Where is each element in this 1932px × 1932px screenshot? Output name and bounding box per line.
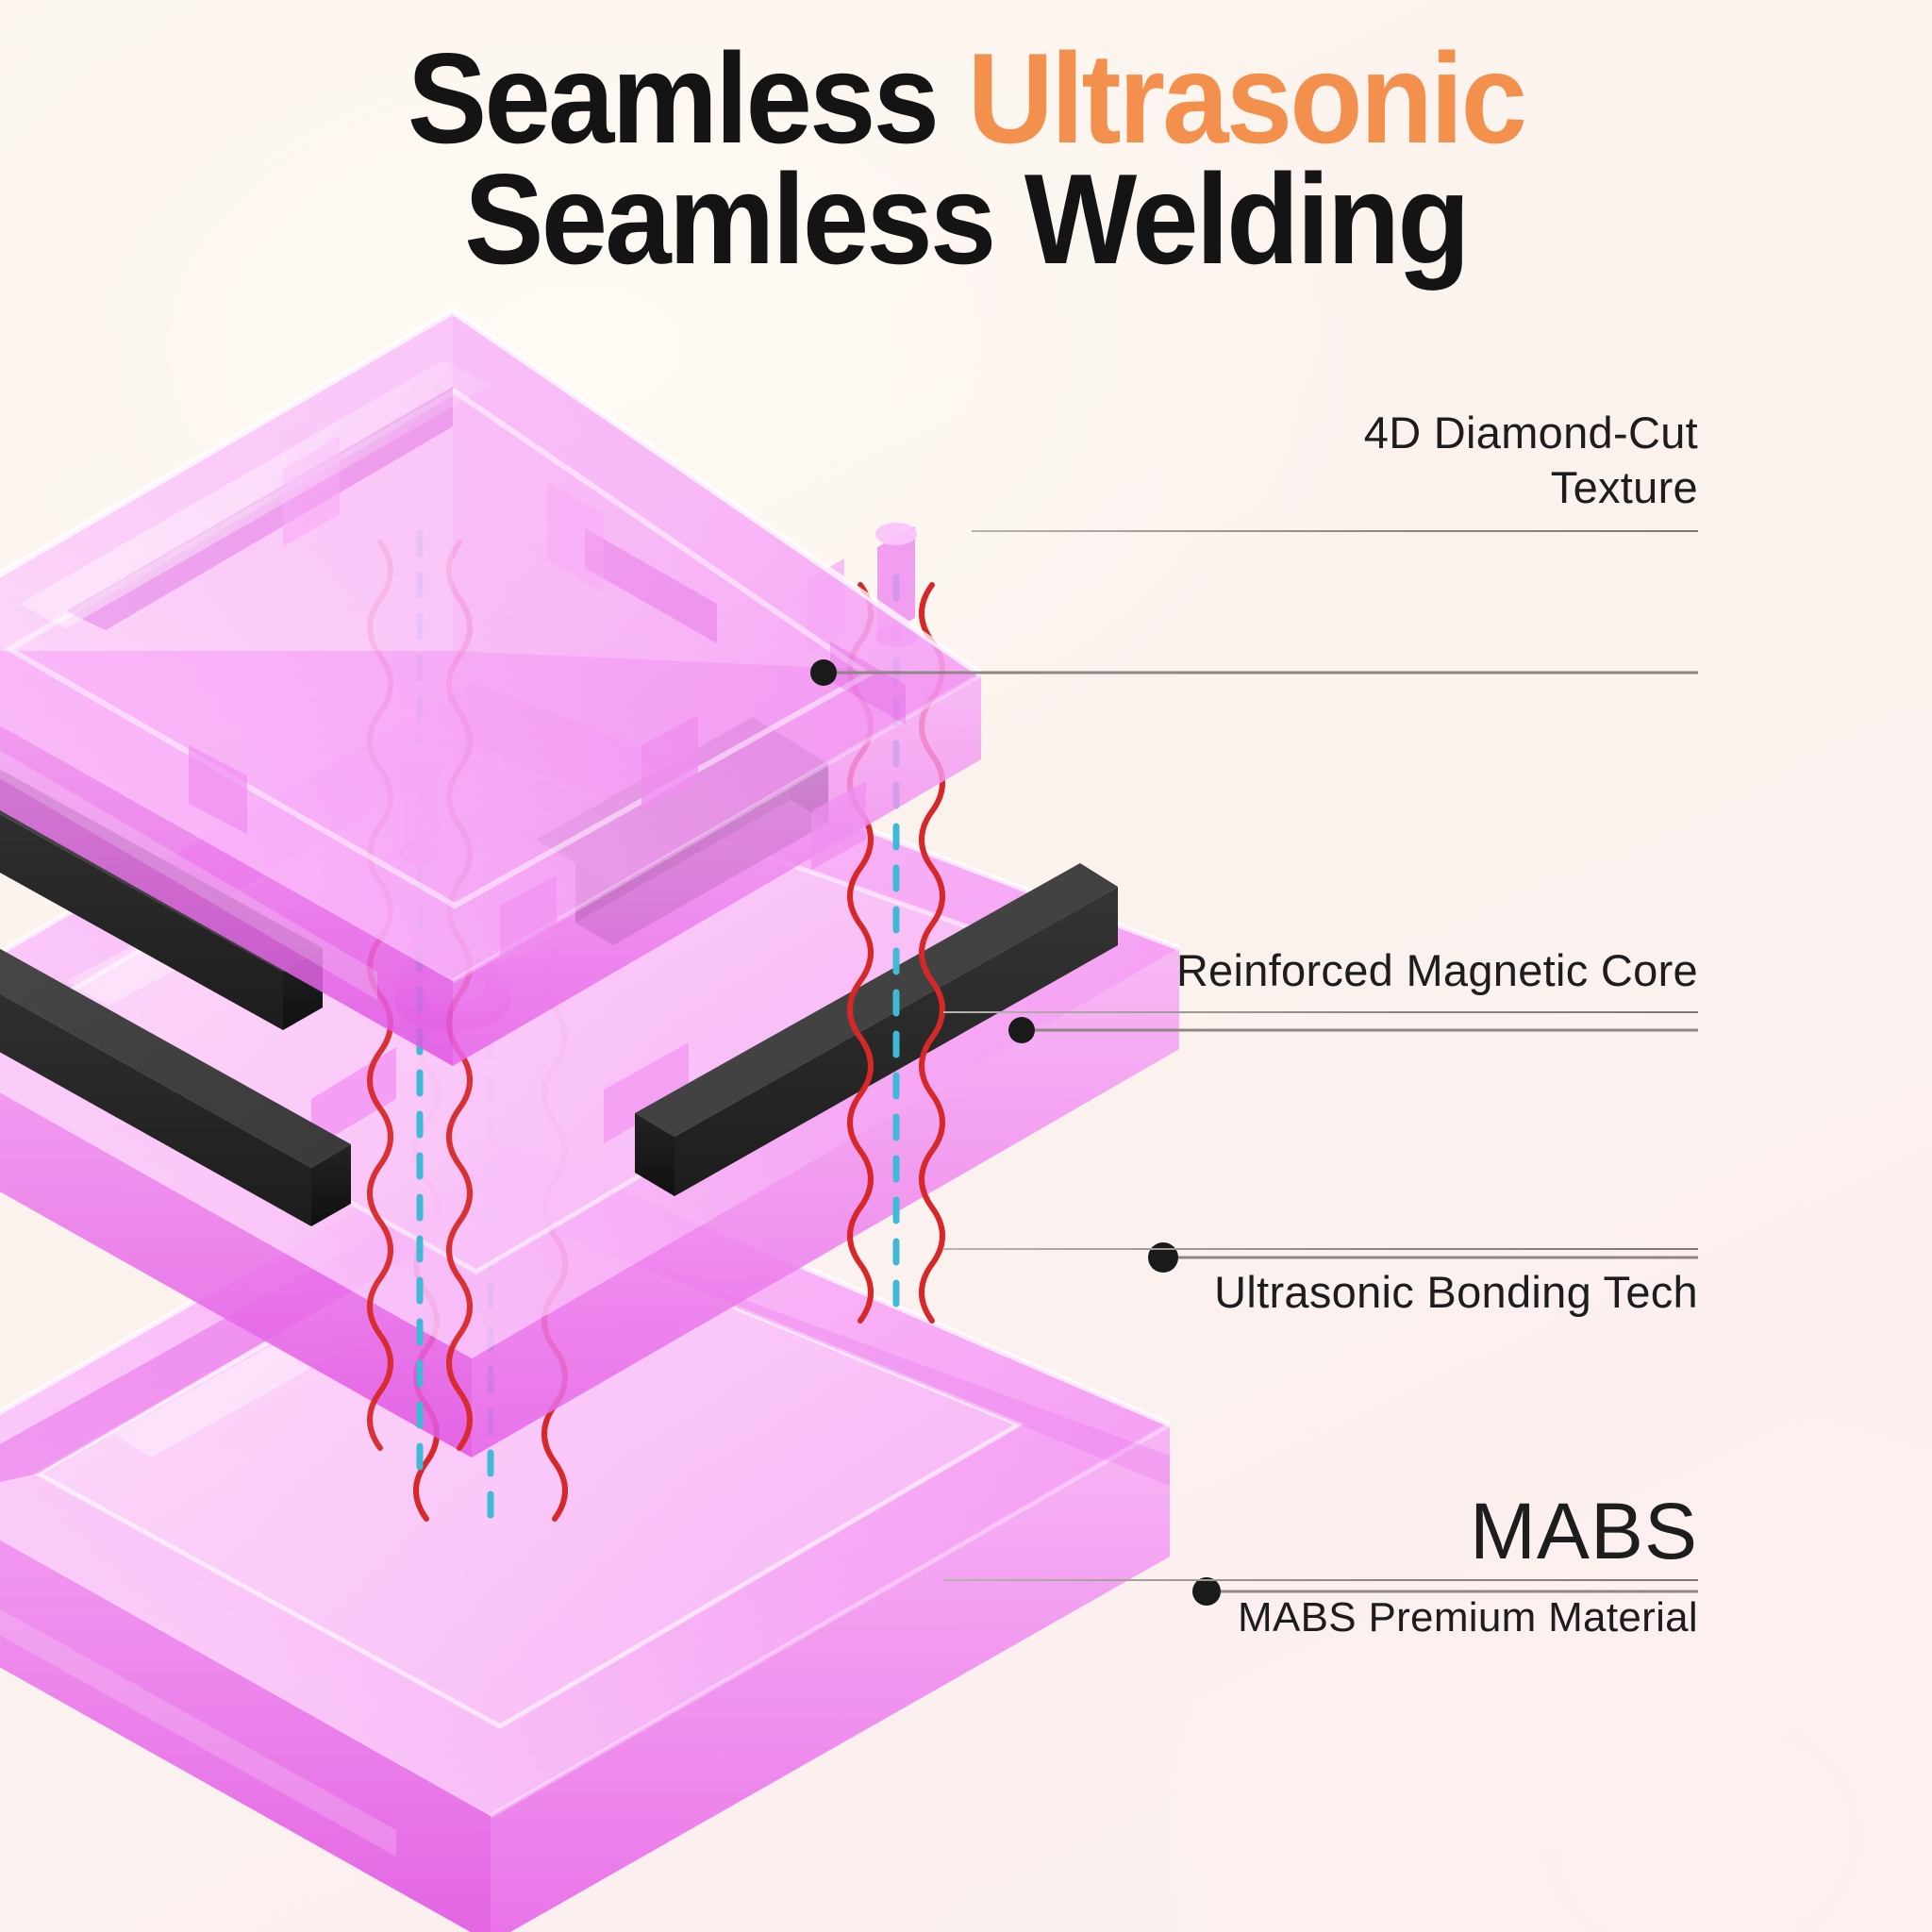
callout-mabs-label: MABS Premium Material bbox=[943, 1592, 1698, 1643]
callout-magnetic-core: Reinforced Magnetic Core bbox=[943, 943, 1698, 1013]
callout-diamond-cut: 4D Diamond-Cut Texture bbox=[972, 406, 1698, 532]
callout-dot-magnetic-core bbox=[1008, 1017, 1035, 1043]
callout-dot-diamond-cut bbox=[810, 659, 837, 686]
callout-ultrasonic-bonding-label: Ultrasonic Bonding Tech bbox=[943, 1265, 1698, 1320]
callout-diamond-cut-label: 4D Diamond-Cut Texture bbox=[972, 406, 1698, 515]
callout-diamond-cut-rule bbox=[972, 530, 1698, 532]
callout-ultrasonic-bonding-rule bbox=[943, 1248, 1698, 1250]
page-title: Seamless Ultrasonic Seamless Welding bbox=[68, 38, 1865, 279]
callout-magnetic-core-rule bbox=[943, 1011, 1698, 1013]
title-line2: Seamless Welding bbox=[68, 158, 1865, 279]
infographic-canvas: Seamless Ultrasonic Seamless Welding 4D … bbox=[0, 0, 1932, 1932]
callout-mabs-rule bbox=[943, 1579, 1698, 1581]
callout-mabs-heading: MABS bbox=[943, 1489, 1698, 1574]
callout-magnetic-core-label: Reinforced Magnetic Core bbox=[943, 943, 1698, 998]
callout-ultrasonic-bonding: Ultrasonic Bonding Tech bbox=[943, 1248, 1698, 1320]
callout-mabs-material: MABS MABS Premium Material bbox=[943, 1489, 1698, 1643]
